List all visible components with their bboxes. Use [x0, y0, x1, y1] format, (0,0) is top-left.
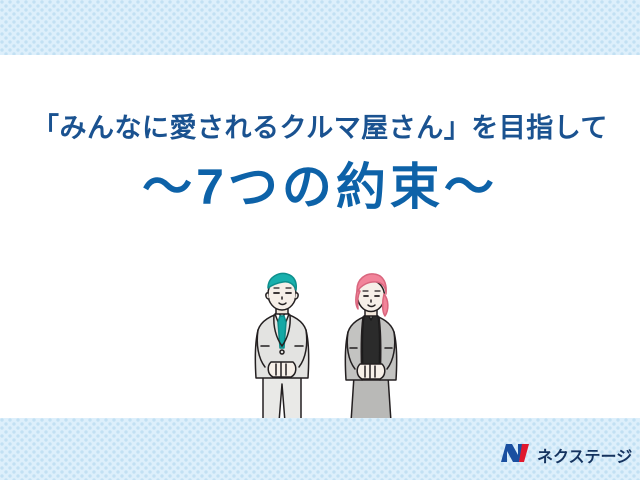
nextage-logo-text: ネクステージ: [537, 443, 632, 467]
nextage-logo: ネクステージ: [500, 440, 625, 470]
slide-canvas: 「みんなに愛されるクルマ屋さん」を目指して 〜7つの約束〜: [0, 0, 640, 480]
two-staff-bowing-illustration: [243, 272, 413, 422]
male-staff-figure: [255, 274, 308, 422]
nextage-n-mark-icon: [500, 442, 530, 469]
headline-line-1: 「みんなに愛されるクルマ屋さん」を目指して: [0, 112, 640, 146]
headline-line-2: 〜7つの約束〜: [0, 160, 640, 215]
top-dot-band: [0, 0, 640, 55]
headline-block: 「みんなに愛されるクルマ屋さん」を目指して 〜7つの約束〜: [0, 112, 640, 215]
female-staff-figure: [345, 274, 396, 422]
